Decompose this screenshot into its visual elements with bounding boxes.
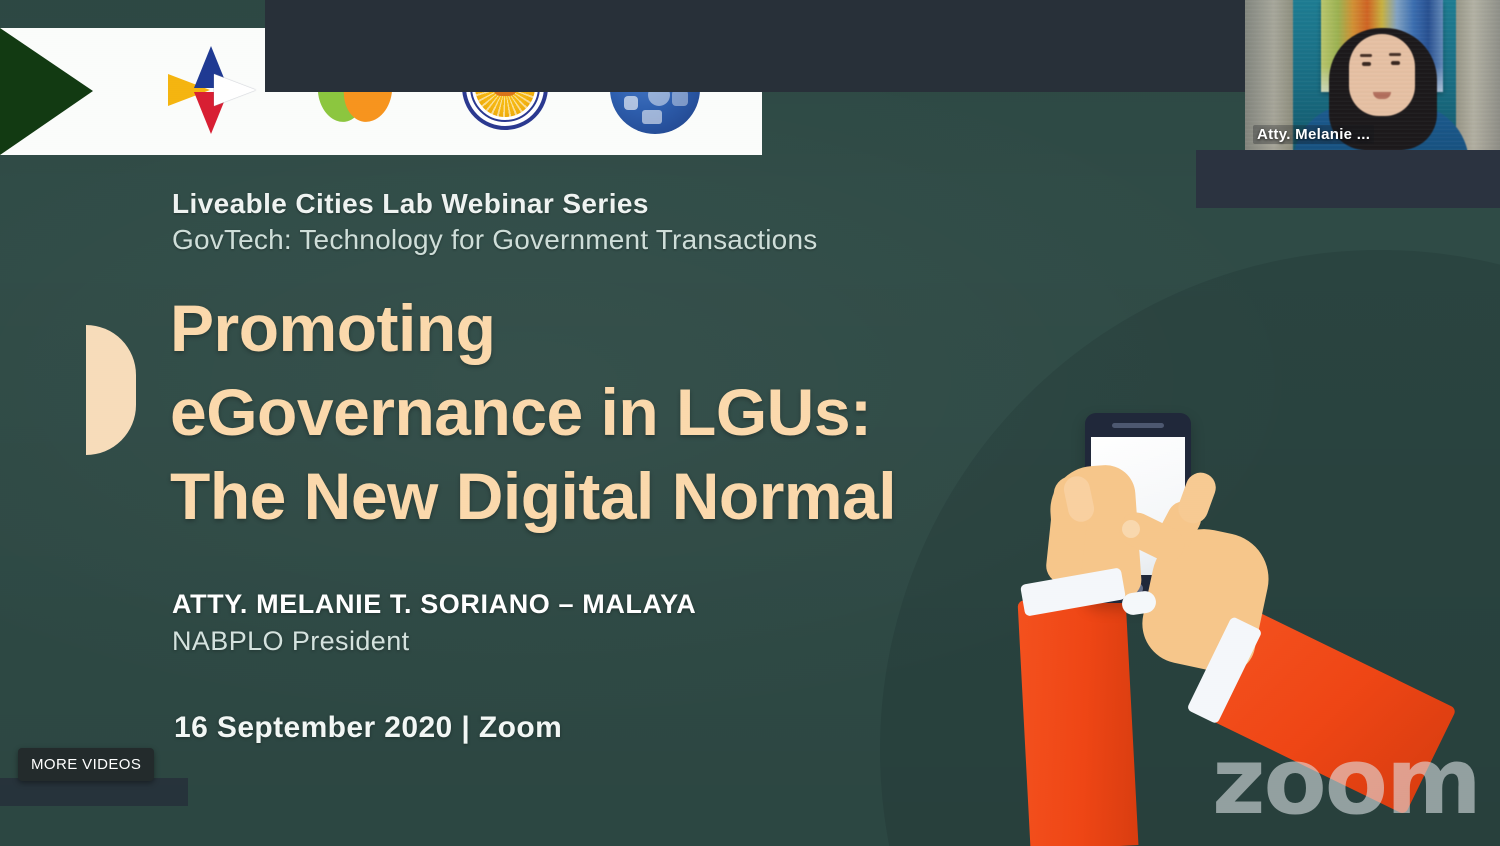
right-fingertip <box>1122 520 1140 538</box>
zoom-tile-chrome-panel <box>1196 150 1500 208</box>
participant-brow-left <box>1360 54 1372 57</box>
speaker-role: NABPLO President <box>172 626 410 657</box>
event-date-platform: 16 September 2020 | Zoom <box>174 711 562 745</box>
left-sleeve <box>1018 595 1139 846</box>
green-arrow-shape <box>0 28 93 155</box>
webinar-series-label: Liveable Cities Lab Webinar Series <box>172 188 649 220</box>
participant-video-tile[interactable]: Atty. Melanie ... <box>1245 0 1500 150</box>
zoom-watermark: zoom <box>1212 736 1480 828</box>
screen-capture: Liveable Cities Lab Webinar Series GovTe… <box>0 0 1500 846</box>
video-right-wall <box>1456 0 1500 150</box>
headline-line-1: Promoting <box>170 286 990 370</box>
participant-eye-right <box>1391 61 1400 65</box>
phone-earpiece <box>1112 423 1164 428</box>
slide-headline: Promoting eGovernance in LGUs: The New D… <box>170 286 990 538</box>
participant-eye-left <box>1362 62 1371 66</box>
participant-brow-right <box>1389 53 1401 56</box>
speaker-name: ATTY. MELANIE T. SORIANO – MALAYA <box>172 589 696 620</box>
participant-name-label: Atty. Melanie ... <box>1253 125 1374 144</box>
x-star-logo <box>166 44 262 140</box>
headline-line-2: eGovernance in LGUs: <box>170 370 990 454</box>
participant-face <box>1349 34 1415 116</box>
more-videos-tooltip[interactable]: MORE VIDEOS <box>18 748 154 781</box>
player-control-bar[interactable] <box>0 778 188 806</box>
webinar-theme-label: GovTech: Technology for Government Trans… <box>172 224 817 256</box>
headline-line-3: The New Digital Normal <box>170 454 990 538</box>
zoom-toolbar-overlay <box>265 0 1246 92</box>
